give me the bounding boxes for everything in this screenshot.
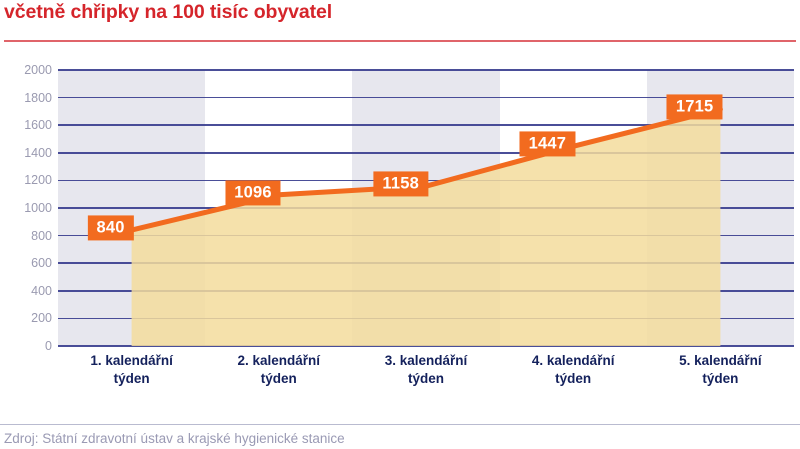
x-tick-label-line: 1. kalendářní [58,352,205,370]
x-tick-label-line: 4. kalendářní [500,352,647,370]
y-tick-label-800: 800 [4,229,52,243]
x-tick-label-line: 2. kalendářní [205,352,352,370]
y-tick-label-1200: 1200 [4,173,52,187]
data-label-2: 1096 [225,180,281,205]
data-label-3: 1158 [373,172,428,197]
x-tick-label-line: 5. kalendářní [647,352,794,370]
x-tick-label-1: 1. kalendářnítýden [58,352,205,388]
x-tick-label-line: týden [205,370,352,388]
y-tick-label-2000: 2000 [4,63,52,77]
x-tick-label-3: 3. kalendářnítýden [352,352,499,388]
x-tick-label-5: 5. kalendářnítýden [647,352,794,388]
y-tick-label-1800: 1800 [4,91,52,105]
x-tick-label-line: týden [647,370,794,388]
y-tick-label-1000: 1000 [4,201,52,215]
y-tick-label-400: 400 [4,284,52,298]
x-tick-label-2: 2. kalendářnítýden [205,352,352,388]
x-tick-label-line: 3. kalendářní [352,352,499,370]
chart-container: 8401096115814471715 20001800160014001200… [0,0,800,449]
y-tick-label-0: 0 [4,339,52,353]
y-tick-label-1400: 1400 [4,146,52,160]
data-label-5: 1715 [667,95,723,120]
x-tick-label-line: týden [352,370,499,388]
x-tick-label-line: týden [500,370,647,388]
source-note: Zdroj: Státní zdravotní ústav a krajské … [4,431,345,446]
plot-area: 8401096115814471715 [58,70,794,346]
x-tick-label-line: týden [58,370,205,388]
area-fill-shape [132,109,721,346]
x-tick-label-4: 4. kalendářnítýden [500,352,647,388]
y-tick-label-1600: 1600 [4,118,52,132]
footer-divider [0,424,800,425]
data-label-1: 840 [87,216,133,241]
y-tick-label-200: 200 [4,311,52,325]
y-tick-label-600: 600 [4,256,52,270]
data-label-4: 1447 [520,132,576,157]
